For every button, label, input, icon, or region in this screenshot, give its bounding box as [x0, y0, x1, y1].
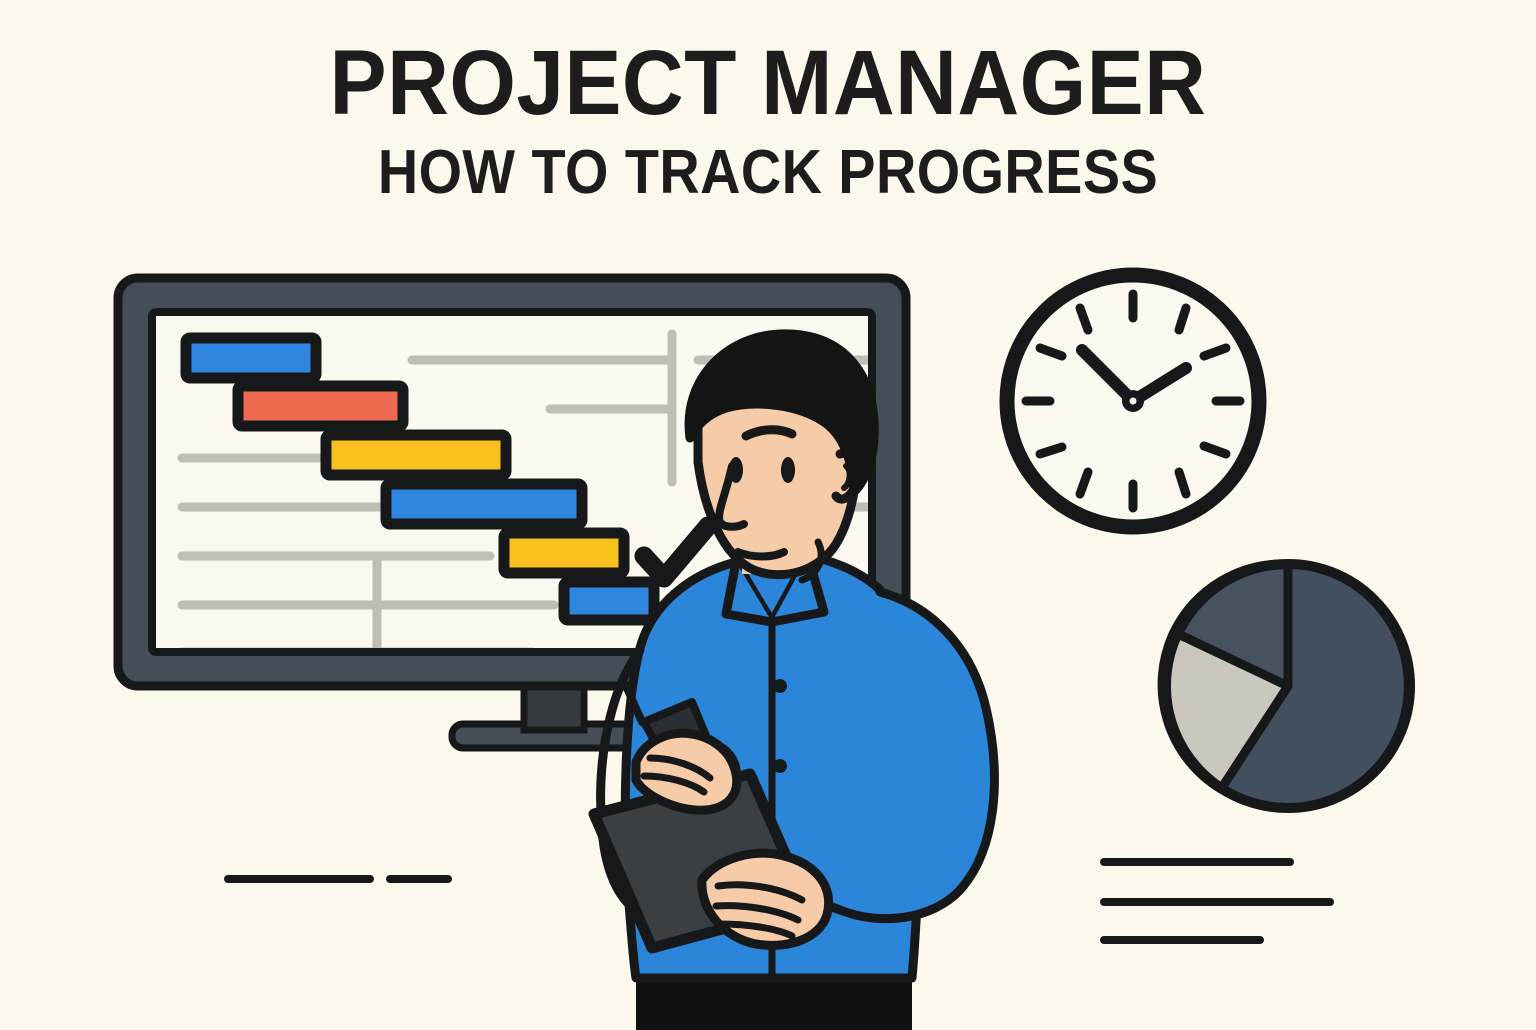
mouth — [738, 552, 784, 557]
hand-holding — [702, 853, 829, 945]
decorative-lines-right — [1096, 846, 1356, 956]
shirt-button — [773, 679, 787, 693]
illustration-canvas: PROJECT MANAGER HOW TO TRACK PROGRESS — [0, 0, 1536, 1024]
shirt-button — [773, 759, 787, 773]
eye-right — [781, 457, 795, 483]
project-manager-figure — [540, 330, 1060, 1030]
progress-pie-chart — [1152, 548, 1424, 824]
decorative-lines-left — [222, 866, 462, 892]
clock-center-dot — [1130, 398, 1137, 405]
title-block: PROJECT MANAGER HOW TO TRACK PROGRESS — [0, 38, 1536, 204]
page-subtitle: HOW TO TRACK PROGRESS — [77, 142, 1459, 204]
gantt-bar — [238, 386, 403, 426]
gantt-bar — [186, 338, 316, 378]
gantt-bar — [326, 435, 506, 475]
page-title: PROJECT MANAGER — [54, 38, 1482, 128]
